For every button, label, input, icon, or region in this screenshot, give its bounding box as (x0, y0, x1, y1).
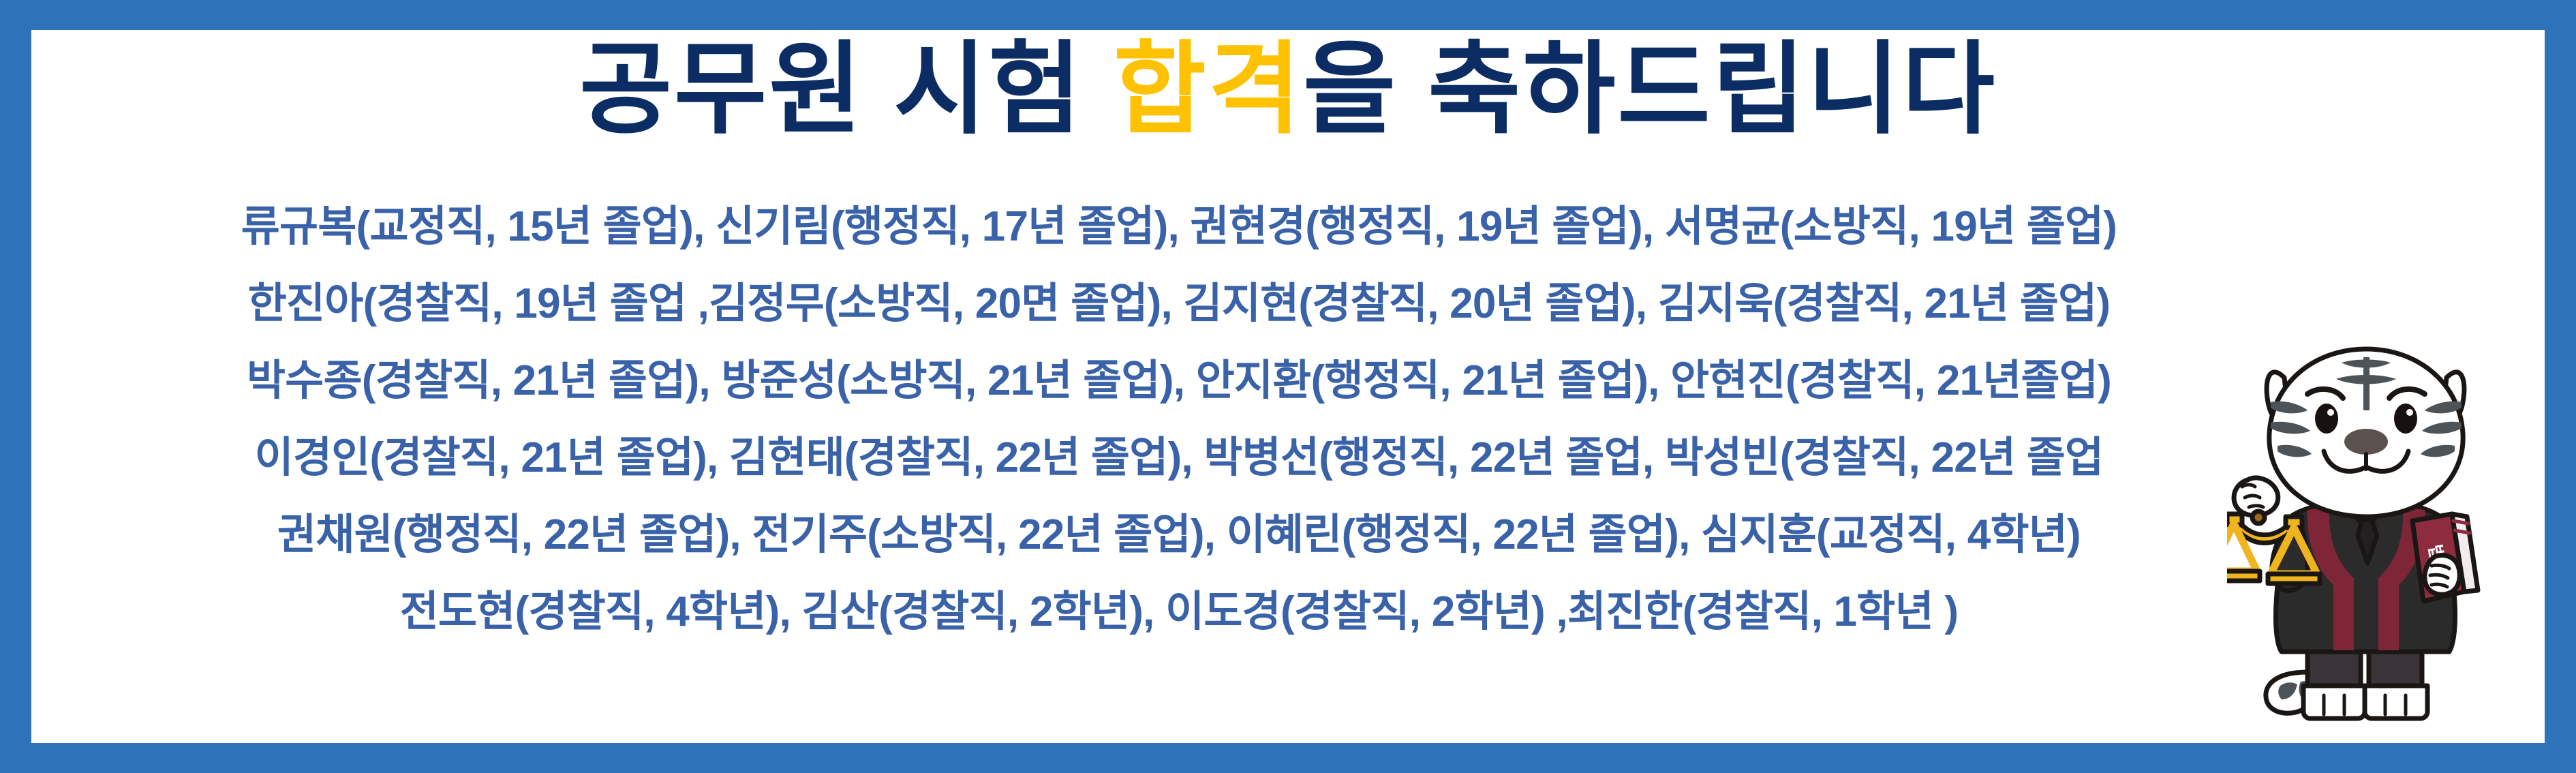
scales-left-pan-base (2227, 571, 2260, 581)
scales-knob (2252, 511, 2265, 524)
name-line: 권채원(행정직, 22년 졸업), 전기주(소방직, 22년 졸업), 이혜린(… (31, 496, 2327, 573)
title-highlight-pass: 합격 (1114, 33, 1303, 146)
tiger-nose (2344, 429, 2388, 455)
left-eye-glint (2327, 409, 2334, 416)
name-line: 류규복(교정직, 15년 졸업), 신기림(행정직, 17년 졸업), 권현경(… (31, 188, 2327, 265)
scales-right-pan-base (2268, 574, 2320, 583)
name-line: 이경인(경찰직, 21년 졸업), 김현태(경찰직, 22년 졸업), 박병선(… (31, 419, 2327, 496)
graduate-name-list: 류규복(교정직, 15년 졸업), 신기림(행정직, 17년 졸업), 권현경(… (31, 188, 2545, 650)
name-line: 전도현(경찰직, 4학년), 김산(경찰직, 2학년), 이도경(경찰직, 2학… (31, 573, 2327, 650)
name-line: 박수종(경찰직, 21년 졸업), 방준성(소방직, 21년 졸업), 안지환(… (31, 342, 2327, 419)
right-eye-glint (2406, 409, 2413, 416)
banner-frame: 공무원 시험 합격을 축하드립니다 류규복(교정직, 15년 졸업), 신기림(… (0, 0, 2576, 773)
tiger-judge-illustration: 법전 (2227, 331, 2527, 740)
title-part-2: 을 축하드립니다 (1303, 33, 1997, 146)
left-eye (2315, 404, 2338, 434)
page-title: 공무원 시험 합격을 축하드립니다 (31, 37, 2545, 142)
tiger-judge-mascot: 법전 (2227, 331, 2527, 740)
title-part-1: 공무원 시험 (579, 33, 1114, 146)
tiger-right-foot (2365, 686, 2427, 718)
banner-content: 공무원 시험 합격을 축하드립니다 류규복(교정직, 15년 졸업), 신기림(… (31, 30, 2545, 743)
tiger-left-foot (2303, 686, 2365, 718)
right-eye (2394, 404, 2417, 434)
name-line: 한진아(경찰직, 19년 졸업 ,김정무(소방직, 20면 졸업), 김지현(경… (31, 265, 2327, 342)
